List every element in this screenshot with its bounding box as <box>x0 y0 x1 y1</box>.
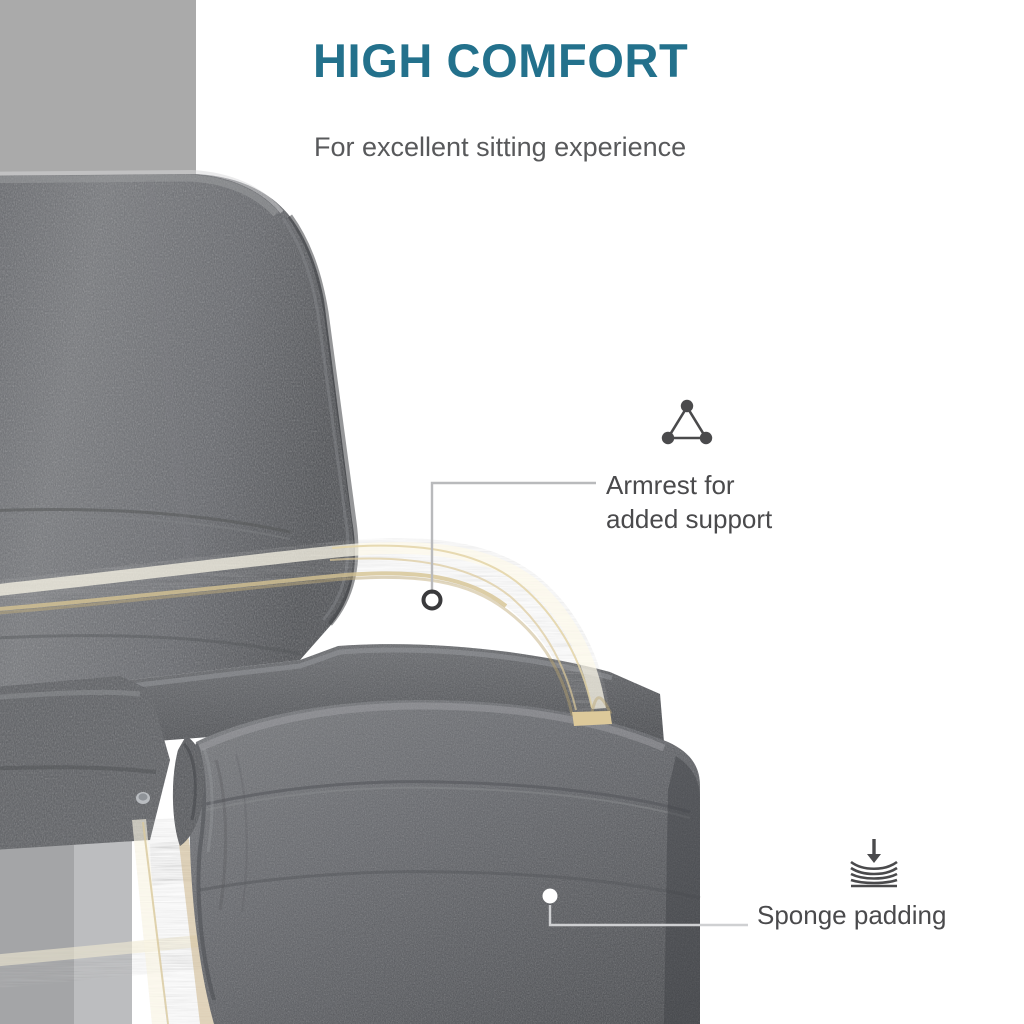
armrest-callout-label: Armrest for added support <box>606 468 772 537</box>
page-subtitle: For excellent sitting experience <box>314 131 686 163</box>
backrest-cushion <box>0 172 356 700</box>
compression-padding-icon <box>843 837 905 889</box>
footrest-cushion <box>190 700 700 1024</box>
infographic-canvas: HIGH COMFORT For excellent sitting exper… <box>0 0 1024 1024</box>
frame-screw <box>136 792 150 804</box>
page-title: HIGH COMFORT <box>313 36 688 85</box>
backdrop-panel <box>0 0 196 178</box>
sponge-callout-label: Sponge padding <box>757 898 946 932</box>
triangle-support-icon <box>659 398 715 446</box>
